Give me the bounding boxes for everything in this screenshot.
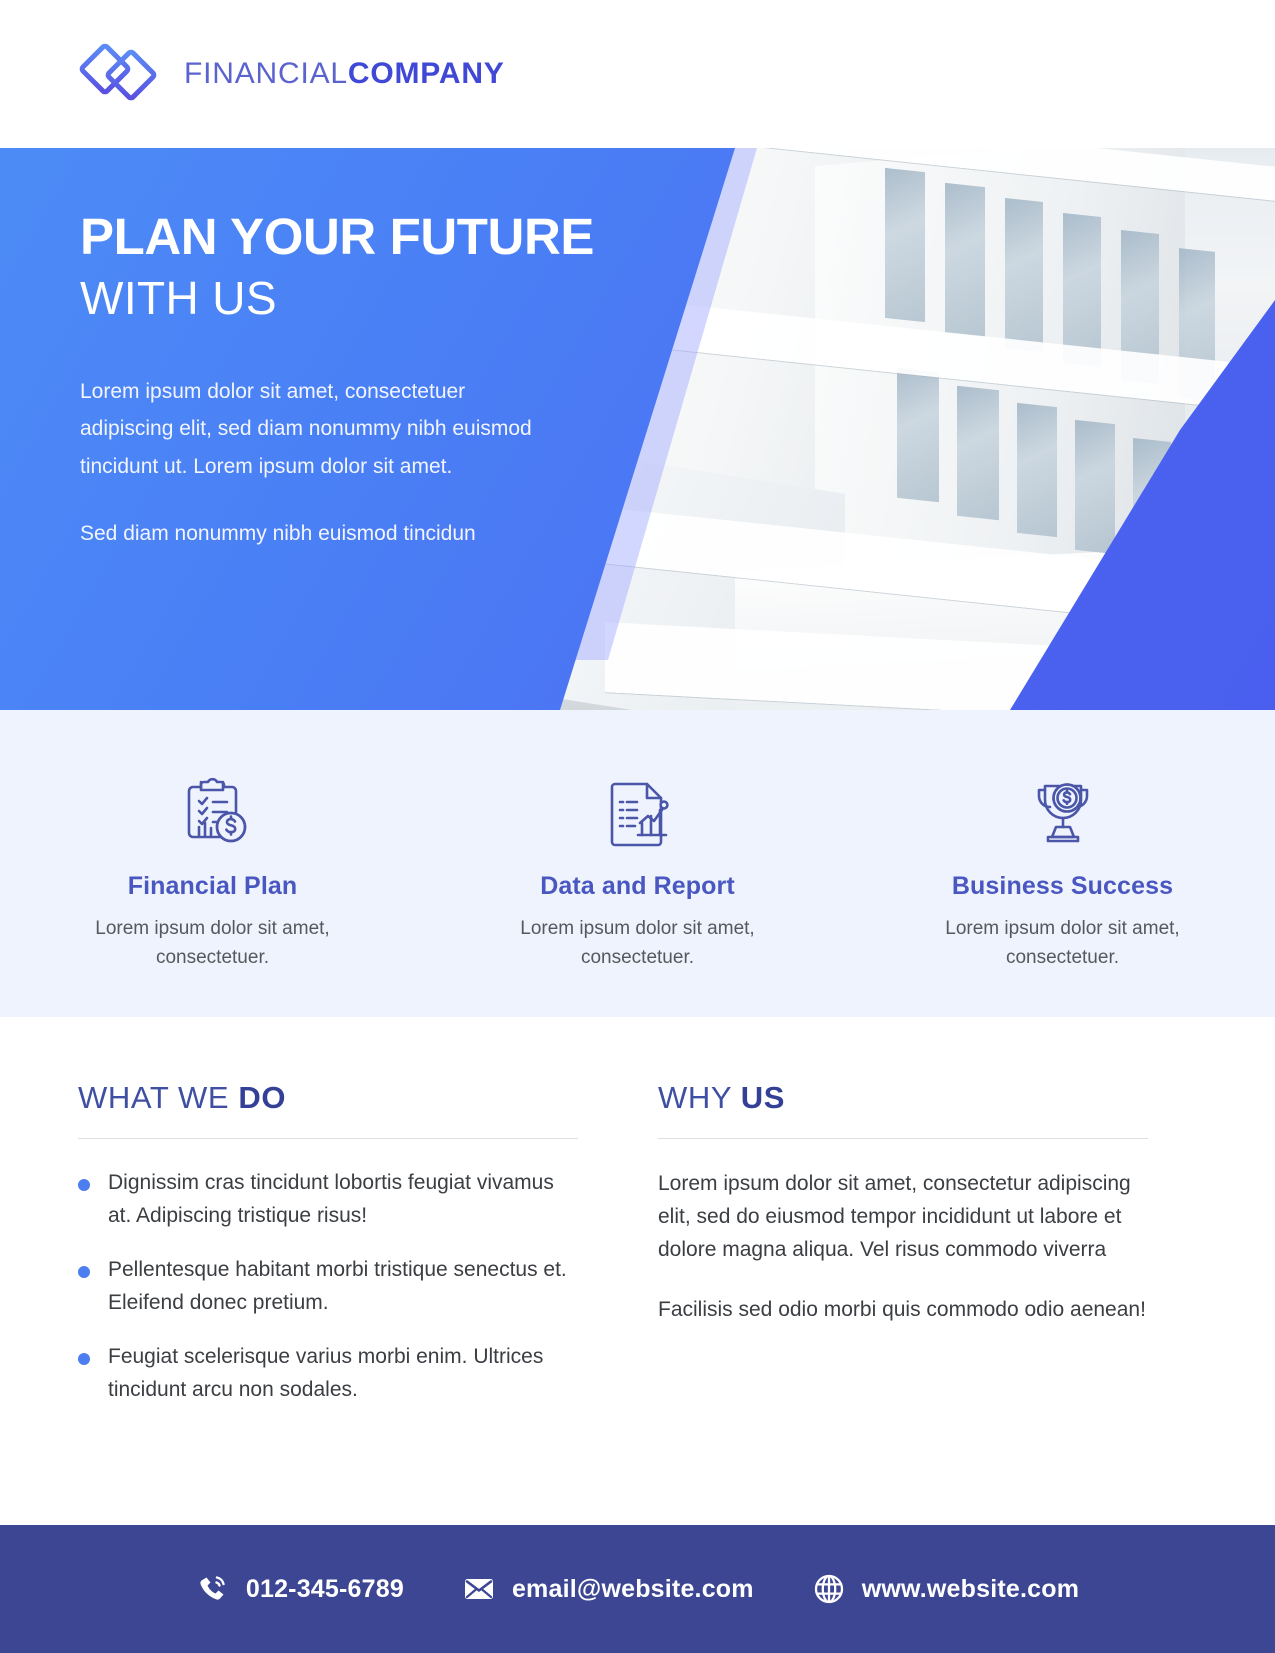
bullet-dot-icon <box>78 1266 90 1278</box>
feature-description: Lorem ipsum dolor sit amet, consectetuer… <box>930 915 1195 972</box>
header: FINANCIALCOMPANY <box>0 0 1275 148</box>
brand-name-light: FINANCIAL <box>184 57 348 90</box>
building-window <box>1005 198 1043 352</box>
building-window <box>897 368 939 502</box>
phone-icon <box>196 1572 230 1606</box>
contact-email[interactable]: email@website.com <box>462 1572 754 1606</box>
list-item-text: Feugiat scelerisque varius morbi enim. U… <box>108 1341 578 1406</box>
trophy-dollar-badge-icon <box>1021 770 1105 856</box>
content-section: WHAT WE DO Dignissim cras tincidunt lobo… <box>0 1017 1275 1525</box>
feature-card-business-success[interactable]: Business Success Lorem ipsum dolor sit a… <box>850 710 1275 1017</box>
contact-email-text: email@website.com <box>512 1575 754 1604</box>
what-we-do-title: WHAT WE DO <box>78 1080 578 1116</box>
feature-title: Financial Plan <box>128 872 298 901</box>
feature-card-financial-plan[interactable]: Financial Plan Lorem ipsum dolor sit ame… <box>0 710 425 1017</box>
list-item: Pellentesque habitant morbi tristique se… <box>78 1254 578 1319</box>
building-window <box>1063 213 1101 367</box>
contact-website[interactable]: www.website.com <box>812 1572 1079 1606</box>
brand-name-bold: COMPANY <box>348 57 505 90</box>
hero-title-line1: PLAN YOUR FUTURE <box>80 210 620 264</box>
list-item: Dignissim cras tincidunt lobortis feugia… <box>78 1167 578 1232</box>
building-window <box>885 168 925 322</box>
feature-title: Data and Report <box>540 872 735 901</box>
flyer-page: PLAN YOUR FUTURE WITH US Lorem ipsum dol… <box>0 0 1275 1653</box>
divider <box>78 1138 578 1139</box>
feature-card-data-and-report[interactable]: Data and Report Lorem ipsum dolor sit am… <box>425 710 850 1017</box>
bullet-dot-icon <box>78 1179 90 1191</box>
hero-paragraph-2: Sed diam nonummy nibh euismod tincidun <box>80 515 520 552</box>
contact-website-text: www.website.com <box>862 1575 1079 1604</box>
contact-phone[interactable]: 012-345-6789 <box>196 1572 404 1606</box>
feature-title: Business Success <box>952 872 1173 901</box>
why-us-title-light: WHY <box>658 1080 741 1115</box>
what-we-do-list: Dignissim cras tincidunt lobortis feugia… <box>78 1167 578 1406</box>
why-us-title-bold: US <box>741 1080 785 1115</box>
hero-paragraph-1: Lorem ipsum dolor sit amet, consectetuer… <box>80 373 550 485</box>
why-us-title: WHY US <box>658 1080 1148 1116</box>
what-we-do-title-light: WHAT WE <box>78 1080 238 1115</box>
globe-icon <box>812 1572 846 1606</box>
what-we-do-column: WHAT WE DO Dignissim cras tincidunt lobo… <box>78 1080 578 1525</box>
feature-description: Lorem ipsum dolor sit amet, consectetuer… <box>505 915 770 972</box>
hero-title-line2: WITH US <box>80 270 620 328</box>
building-window <box>945 183 985 337</box>
why-us-column: WHY US Lorem ipsum dolor sit amet, conse… <box>658 1080 1148 1525</box>
footer-contact-bar: 012-345-6789 email@website.com www.websi… <box>0 1525 1275 1653</box>
logo-lockup[interactable]: FINANCIALCOMPANY <box>78 38 505 110</box>
list-item: Feugiat scelerisque varius morbi enim. U… <box>78 1341 578 1406</box>
building-window <box>1017 403 1057 537</box>
features-section: Financial Plan Lorem ipsum dolor sit ame… <box>0 710 1275 1017</box>
what-we-do-title-bold: DO <box>238 1080 286 1115</box>
list-item-text: Dignissim cras tincidunt lobortis feugia… <box>108 1167 578 1232</box>
hero-content: PLAN YOUR FUTURE WITH US Lorem ipsum dol… <box>80 210 620 553</box>
clipboard-checklist-dollar-icon <box>171 770 255 856</box>
feature-description: Lorem ipsum dolor sit amet, consectetuer… <box>80 915 345 972</box>
double-diamond-logo-icon <box>78 38 162 110</box>
envelope-icon <box>462 1572 496 1606</box>
why-us-paragraph-1: Lorem ipsum dolor sit amet, consectetur … <box>658 1167 1148 1267</box>
building-window <box>1075 420 1115 554</box>
brand-name: FINANCIALCOMPANY <box>184 57 505 91</box>
document-bar-chart-icon <box>596 770 680 856</box>
building-window <box>957 386 999 520</box>
why-us-paragraph-2: Facilisis sed odio morbi quis commodo od… <box>658 1293 1148 1326</box>
bullet-dot-icon <box>78 1353 90 1365</box>
contact-phone-text: 012-345-6789 <box>246 1575 404 1604</box>
divider <box>658 1138 1148 1139</box>
list-item-text: Pellentesque habitant morbi tristique se… <box>108 1254 578 1319</box>
